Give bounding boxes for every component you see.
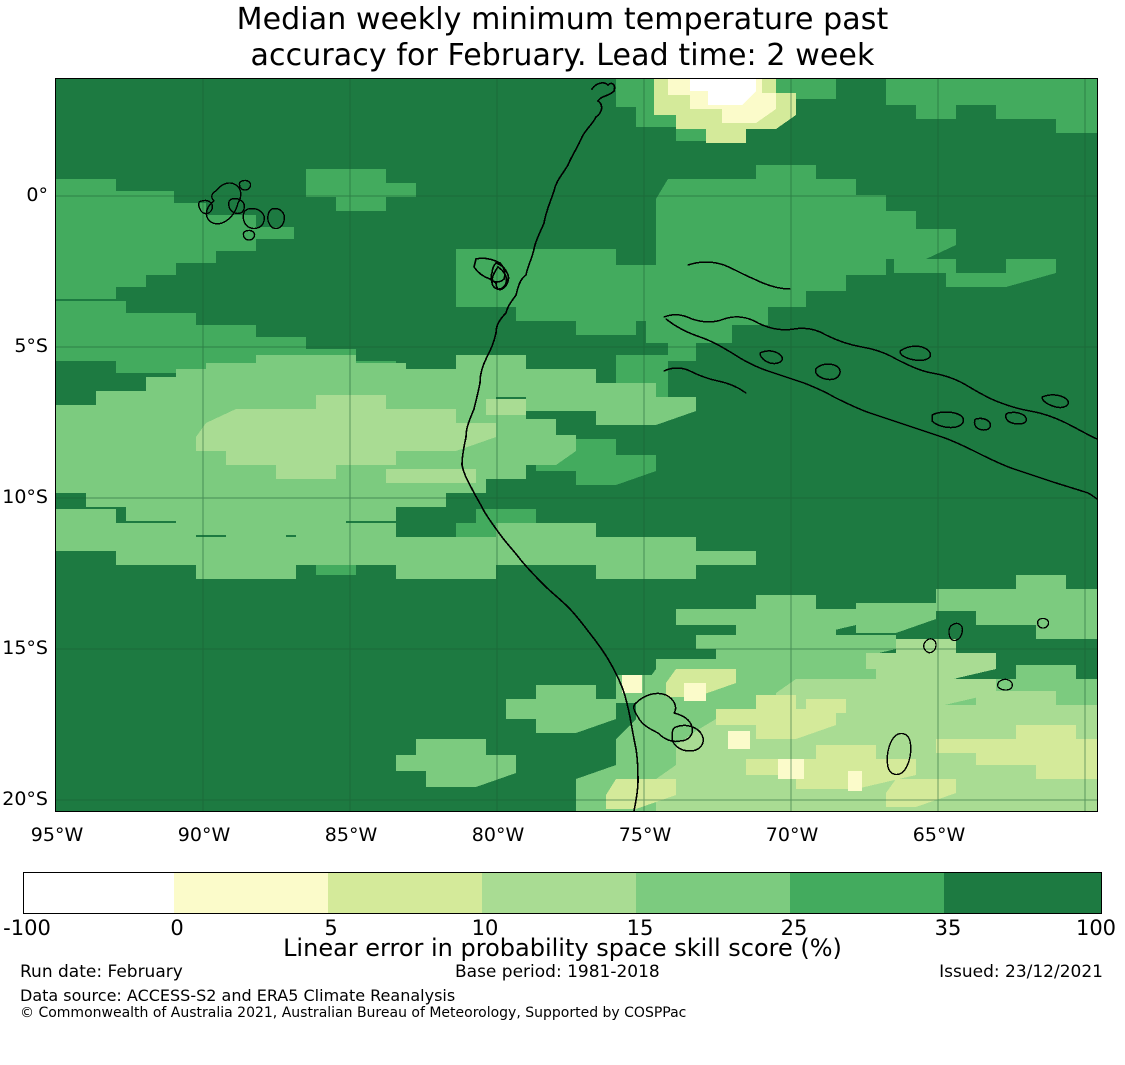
- colorbar-title: Linear error in probability space skill …: [0, 934, 1125, 962]
- colorbar-segment-2: [328, 873, 482, 913]
- x-tick-label: 95°W: [31, 824, 83, 846]
- colorbar[interactable]: [23, 872, 1102, 914]
- footer-base-period: Base period: 1981-2018: [455, 962, 660, 982]
- x-tick-label: 85°W: [325, 824, 377, 846]
- y-tick-label: 10°S: [0, 486, 48, 508]
- footer-copyright: © Commonwealth of Australia 2021, Austra…: [20, 1005, 686, 1021]
- y-tick-label: 0°: [2, 184, 48, 206]
- colorbar-segment-0: [24, 873, 174, 913]
- x-tick-label: 75°W: [619, 824, 671, 846]
- chart-title-line-1: Median weekly minimum temperature past: [0, 2, 1125, 38]
- colorbar-segment-1: [174, 873, 328, 913]
- y-tick-label: 5°S: [2, 335, 48, 357]
- footer-data-source: Data source: ACCESS-S2 and ERA5 Climate …: [20, 986, 455, 1005]
- chart-title-line-2: accuracy for February. Lead time: 2 week: [0, 38, 1125, 74]
- colorbar-segment-5: [790, 873, 944, 913]
- y-tick-label: 20°S: [0, 788, 48, 810]
- y-tick-label: 15°S: [0, 637, 48, 659]
- x-tick-label: 65°W: [913, 824, 965, 846]
- x-tick-label: 80°W: [472, 824, 524, 846]
- x-tick-label: 70°W: [766, 824, 818, 846]
- skill-score-heatmap[interactable]: [55, 78, 1098, 812]
- x-tick-label: 90°W: [178, 824, 230, 846]
- colorbar-gradient[interactable]: [23, 872, 1102, 914]
- map-plot-area[interactable]: [55, 78, 1098, 812]
- colorbar-segment-6: [944, 873, 1101, 913]
- colorbar-segment-3: [482, 873, 636, 913]
- footer-issued-date: Issued: 23/12/2021: [939, 962, 1103, 982]
- chart-title: Median weekly minimum temperature past a…: [0, 2, 1125, 74]
- colorbar-segment-4: [636, 873, 790, 913]
- footer-run-date: Run date: February: [20, 962, 183, 982]
